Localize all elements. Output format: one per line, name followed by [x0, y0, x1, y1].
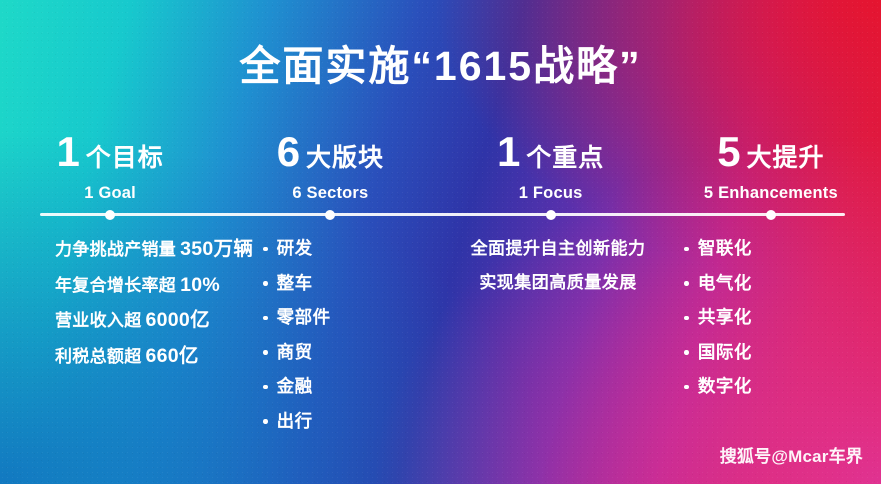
list-item-label: 国际化 — [698, 344, 752, 362]
list-item-label: 出行 — [277, 413, 313, 431]
column-header-main-4: 5大提升 — [661, 131, 881, 173]
list-item: 智联化 — [684, 240, 752, 258]
timeline-divider — [40, 213, 845, 216]
column-body-4: 智联化电气化共享化国际化数字化 — [656, 240, 881, 447]
focus-line: 实现集团高质量发展 — [479, 274, 637, 291]
column-body-3: 全面提升自主创新能力实现集团高质量发展 — [460, 240, 657, 447]
goal-line: 年复合增长率超10% — [55, 276, 253, 296]
goal-line-value: 6000亿 — [146, 309, 210, 331]
column-body-2: 研发整车零部件商贸金融出行 — [253, 240, 460, 447]
list-item-label: 商贸 — [277, 344, 313, 362]
bullet-dot-icon — [263, 419, 268, 424]
bullet-dot-icon — [684, 281, 689, 286]
column-header-cn-label: 个目标 — [86, 146, 164, 171]
bullet-dot-icon — [263, 247, 268, 252]
goal-line-text: 利税总额超 — [55, 347, 142, 366]
goal-line: 营业收入超6000亿 — [55, 311, 253, 331]
list-item: 出行 — [263, 413, 313, 431]
bullet-dot-icon — [684, 316, 689, 321]
goal-line-value: 10% — [180, 274, 220, 296]
list-item: 整车 — [263, 275, 313, 293]
column-header-en-label: 5 Enhancements — [661, 184, 881, 203]
goal-line-text: 营业收入超 — [55, 311, 142, 330]
column-header-cn-label: 个重点 — [526, 146, 604, 171]
column-header-en-label: 6 Sectors — [220, 184, 440, 203]
column-header-en-label: 1 Focus — [441, 184, 661, 203]
list-item-label: 数字化 — [698, 378, 752, 396]
list-item-label: 电气化 — [698, 275, 752, 293]
list-item: 共享化 — [684, 309, 752, 327]
column-header-number: 1 — [497, 131, 520, 173]
list-item: 零部件 — [263, 309, 331, 327]
bullet-dot-icon — [263, 350, 268, 355]
infographic-canvas: 全面实施“1615战略” 1个目标1 Goal6大版块6 Sectors1个重点… — [0, 0, 881, 484]
divider-node-3 — [546, 210, 556, 220]
goal-line-value: 660亿 — [146, 345, 199, 367]
list-item-label: 整车 — [277, 275, 313, 293]
column-header-number: 1 — [56, 131, 79, 173]
column-header-3: 1个重点1 Focus — [441, 131, 661, 203]
bullet-dot-icon — [263, 281, 268, 286]
column-header-main-2: 6大版块 — [220, 131, 440, 173]
bullet-dot-icon — [684, 350, 689, 355]
list-item-label: 零部件 — [277, 309, 331, 327]
list-item-label: 金融 — [277, 378, 313, 396]
list-item: 国际化 — [684, 344, 752, 362]
column-header-main-3: 1个重点 — [441, 131, 661, 173]
list-item: 数字化 — [684, 378, 752, 396]
column-header-number: 5 — [717, 131, 740, 173]
column-bodies: 力争挑战产销量350万辆年复合增长率超10%营业收入超6000亿利税总额超660… — [0, 240, 881, 447]
column-header-main-1: 1个目标 — [0, 131, 220, 173]
bullet-dot-icon — [263, 316, 268, 321]
goal-line-value: 350万辆 — [180, 238, 253, 260]
list-item-label: 共享化 — [698, 309, 752, 327]
page-title: 全面实施“1615战略” — [0, 43, 881, 90]
divider-node-2 — [325, 210, 335, 220]
divider-node-1 — [105, 210, 115, 220]
column-header-1: 1个目标1 Goal — [0, 131, 220, 203]
watermark: 搜狐号@Mcar车界 — [720, 442, 863, 467]
list-item-label: 研发 — [277, 240, 313, 258]
bullet-dot-icon — [684, 247, 689, 252]
list-item-label: 智联化 — [698, 240, 752, 258]
column-header-en-label: 1 Goal — [0, 184, 220, 203]
column-header-cn-label: 大提升 — [747, 146, 825, 171]
column-header-number: 6 — [277, 131, 300, 173]
column-headers: 1个目标1 Goal6大版块6 Sectors1个重点1 Focus5大提升5 … — [0, 131, 881, 203]
column-header-cn-label: 大版块 — [306, 146, 384, 171]
column-header-2: 6大版块6 Sectors — [220, 131, 440, 203]
bullet-dot-icon — [684, 385, 689, 390]
divider-node-4 — [766, 210, 776, 220]
list-item: 电气化 — [684, 275, 752, 293]
goal-line-text: 年复合增长率超 — [55, 276, 176, 295]
list-item: 商贸 — [263, 344, 313, 362]
goal-line: 利税总额超660亿 — [55, 347, 253, 367]
list-item: 金融 — [263, 378, 313, 396]
focus-line: 全面提升自主创新能力 — [471, 240, 646, 257]
list-item: 研发 — [263, 240, 313, 258]
column-header-4: 5大提升5 Enhancements — [661, 131, 881, 203]
goal-line: 力争挑战产销量350万辆 — [55, 240, 253, 260]
goal-line-text: 力争挑战产销量 — [55, 240, 176, 259]
bullet-dot-icon — [263, 385, 268, 390]
column-body-1: 力争挑战产销量350万辆年复合增长率超10%营业收入超6000亿利税总额超660… — [0, 240, 253, 447]
